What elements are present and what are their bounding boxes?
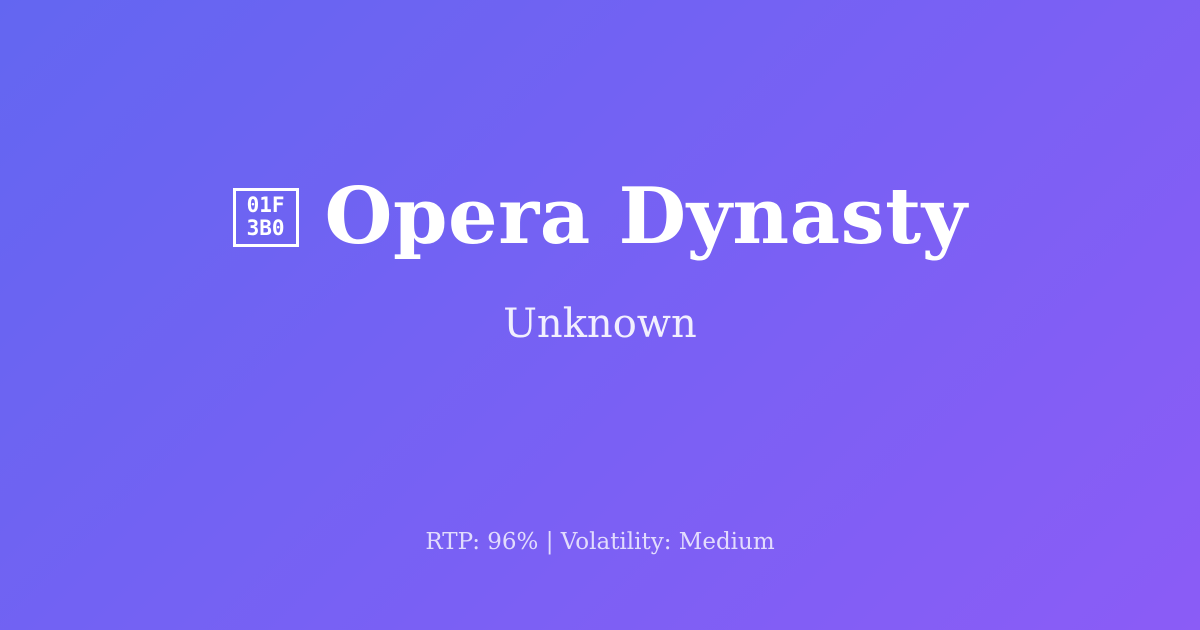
provider-subtitle: Unknown <box>503 300 697 348</box>
tofu-hex-row-bottom: 3B0 <box>247 217 285 240</box>
tofu-hex-row-top: 01F <box>247 194 285 217</box>
og-preview-card: 01F 3B0 Opera Dynasty Unknown RTP: 96% |… <box>0 0 1200 630</box>
title-row: 01F 3B0 Opera Dynasty <box>233 174 968 260</box>
page-title: Opera Dynasty <box>325 174 968 260</box>
game-stats-line: RTP: 96% | Volatility: Medium <box>0 527 1200 557</box>
slot-machine-emoji-icon: 01F 3B0 <box>233 188 299 247</box>
